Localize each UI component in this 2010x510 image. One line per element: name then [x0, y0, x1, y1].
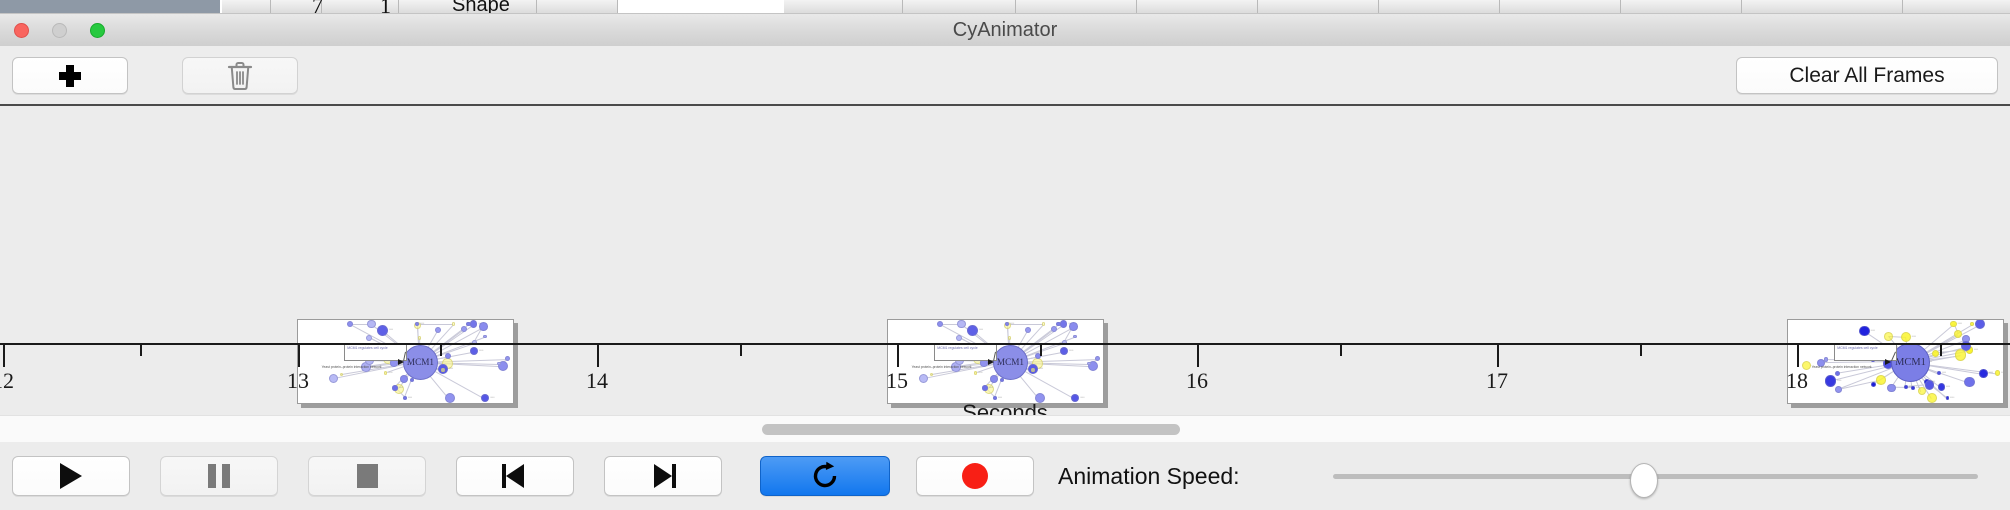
keyframe-thumbnail[interactable]: ••••••••••••••••••••••••••••••••••••••••…	[887, 319, 1104, 404]
background-toolbar-chip	[1500, 0, 1621, 13]
network-node-label: ••••	[449, 367, 453, 370]
pause-icon	[208, 464, 230, 488]
network-node-label: ••••	[1950, 396, 1954, 399]
play-button[interactable]	[12, 456, 130, 496]
network-node-label: ••••	[399, 386, 403, 389]
add-frame-button[interactable]	[12, 57, 128, 94]
skip-forward-icon	[650, 464, 676, 488]
tick-label: 14	[586, 368, 608, 394]
timeline-panel[interactable]: ••••••••••••••••••••••••••••••••••••••••…	[0, 104, 2010, 415]
window-titlebar: CyAnimator	[0, 14, 2010, 47]
trash-icon	[227, 61, 253, 91]
background-toolbar-chip	[222, 0, 271, 13]
network-node-label: ••••	[998, 396, 1002, 399]
background-toolbar-chip	[537, 0, 618, 13]
animation-speed-label: Animation Speed:	[1058, 456, 1240, 496]
network-node-label: ••••	[978, 371, 982, 374]
background-toolbar-chip	[784, 0, 903, 13]
record-icon	[962, 463, 988, 489]
play-icon	[60, 463, 82, 489]
timeline-axis	[0, 343, 2010, 345]
window-title: CyAnimator	[0, 14, 2010, 46]
clear-all-frames-button[interactable]: Clear All Frames	[1736, 57, 1998, 94]
record-button[interactable]	[916, 456, 1034, 496]
tick-minor	[1940, 345, 1942, 356]
frame-toolbar: Clear All Frames	[0, 46, 2010, 105]
network-hub-node: MCM1	[403, 345, 439, 381]
animation-speed-slider[interactable]	[1333, 456, 1978, 496]
tick-minor	[1340, 345, 1342, 356]
stop-button[interactable]	[308, 456, 426, 496]
background-toolbar-chip	[1258, 0, 1379, 13]
background-toolbar-chip	[1903, 0, 2010, 13]
tick-major	[1197, 345, 1199, 367]
network-node-label: ••••	[1871, 329, 1875, 332]
tick-minor	[1640, 345, 1642, 356]
tick-major	[298, 345, 300, 367]
keyframe-thumbnail[interactable]: ••••••••••••••••••••••••••••••••••••••••…	[297, 319, 514, 404]
tick-major	[1797, 345, 1799, 367]
cyanimator-window: CyAnimator Clear All Frames ••••••••••••…	[0, 14, 2010, 510]
network-node-label: ••••	[1974, 348, 1978, 351]
tick-minor	[140, 345, 142, 356]
network-thumbnail: ••••••••••••••••••••••••••••••••••••••••…	[1788, 320, 2003, 403]
network-node-label: ••••	[1039, 367, 1043, 370]
background-toolbar-chip	[1742, 0, 1903, 13]
tick-major	[1497, 345, 1499, 367]
network-node-label: ••••	[979, 328, 983, 331]
network-annotation-text: Yeast protein–protein interaction networ…	[912, 365, 972, 369]
network-node-label: ••••	[1958, 322, 1962, 325]
next-frame-button[interactable]	[604, 456, 722, 496]
network-leader-arrow	[988, 359, 994, 365]
network-node-label: ••••	[989, 386, 993, 389]
stop-icon	[357, 464, 378, 488]
network-annotation-text: Yeast protein–protein interaction networ…	[1812, 365, 1872, 369]
background-toolbar-chip	[1621, 0, 1742, 13]
delete-frame-button[interactable]	[182, 57, 298, 94]
network-node-label: ••••	[1989, 371, 1993, 374]
keyframe-thumbnail[interactable]: ••••••••••••••••••••••••••••••••••••••••…	[1787, 319, 2004, 404]
tick-label: 12	[0, 368, 14, 394]
playback-controls-bar: Animation Speed:	[0, 442, 2010, 510]
network-thumbnail: ••••••••••••••••••••••••••••••••••••••••…	[888, 320, 1103, 403]
tick-label: 17	[1486, 368, 1508, 394]
network-node-label: ••••	[1946, 385, 1950, 388]
timeline-scrollbar-thumb[interactable]	[762, 424, 1180, 435]
network-hub-node: MCM1	[993, 345, 1029, 381]
network-node-label: ••••	[408, 396, 412, 399]
network-node-label: ••••	[1837, 379, 1841, 382]
network-thumbnail: ••••••••••••••••••••••••••••••••••••••••…	[298, 320, 513, 403]
tick-major	[897, 345, 899, 367]
network-node-label: ••••	[1916, 386, 1920, 389]
background-toolbar-chip	[1137, 0, 1258, 13]
clear-all-frames-label: Clear All Frames	[1789, 64, 1944, 88]
network-leader-arrow	[1885, 359, 1891, 365]
network-node-label: ••••	[490, 396, 494, 399]
network-node-label: ••••	[2001, 371, 2004, 374]
network-tooltip-text: MCM1 regulates cell cycle	[937, 346, 977, 350]
loop-button[interactable]	[760, 456, 890, 496]
background-toolbar-chip	[1379, 0, 1500, 13]
plus-icon	[59, 65, 81, 87]
network-node-label: ••••	[1912, 335, 1916, 338]
tick-major	[3, 345, 5, 367]
tick-major	[597, 345, 599, 367]
network-node-label: ••••	[420, 322, 424, 325]
timeline-scrollbar-track[interactable]	[0, 415, 2010, 443]
background-app-strip: 7 1 Shape	[0, 0, 2010, 14]
tick-minor	[440, 345, 442, 356]
skip-back-icon	[502, 464, 528, 488]
network-node-label: ••••	[479, 349, 483, 352]
network-node-label: ••••	[389, 328, 393, 331]
tick-label: 16	[1186, 368, 1208, 394]
network-tooltip-text: MCM1 regulates cell cycle	[347, 346, 387, 350]
animation-speed-thumb[interactable]	[1630, 463, 1658, 498]
timeline-top-border	[0, 104, 2010, 106]
tick-label: 13	[287, 368, 309, 394]
network-node-label: ••••	[1010, 322, 1014, 325]
background-titlebar-dark	[0, 0, 220, 13]
network-tooltip-text: MCM1 regulates cell cycle	[1837, 346, 1877, 350]
pause-button[interactable]	[160, 456, 278, 496]
axis-title-seconds: Seconds	[0, 400, 2010, 415]
previous-frame-button[interactable]	[456, 456, 574, 496]
network-annotation-text: Yeast protein–protein interaction networ…	[322, 365, 382, 369]
network-node-label: ••••	[1080, 396, 1084, 399]
background-glyph-7: 7	[312, 0, 323, 14]
network-leader-arrow	[398, 359, 404, 365]
background-toolbar-chip	[1016, 0, 1137, 13]
network-node-label: ••••	[388, 371, 392, 374]
loop-icon	[810, 461, 840, 491]
network-node-label: ••••	[1942, 371, 1946, 374]
tick-minor	[740, 345, 742, 356]
background-glyph-1: 1	[380, 0, 391, 14]
background-shape-label: Shape	[452, 0, 510, 14]
background-toolbar-chip	[903, 0, 1016, 13]
tick-label: 15	[886, 368, 908, 394]
tick-minor	[1040, 345, 1042, 356]
network-node-label: ••••	[1069, 349, 1073, 352]
tick-label: 18	[1786, 368, 1808, 394]
